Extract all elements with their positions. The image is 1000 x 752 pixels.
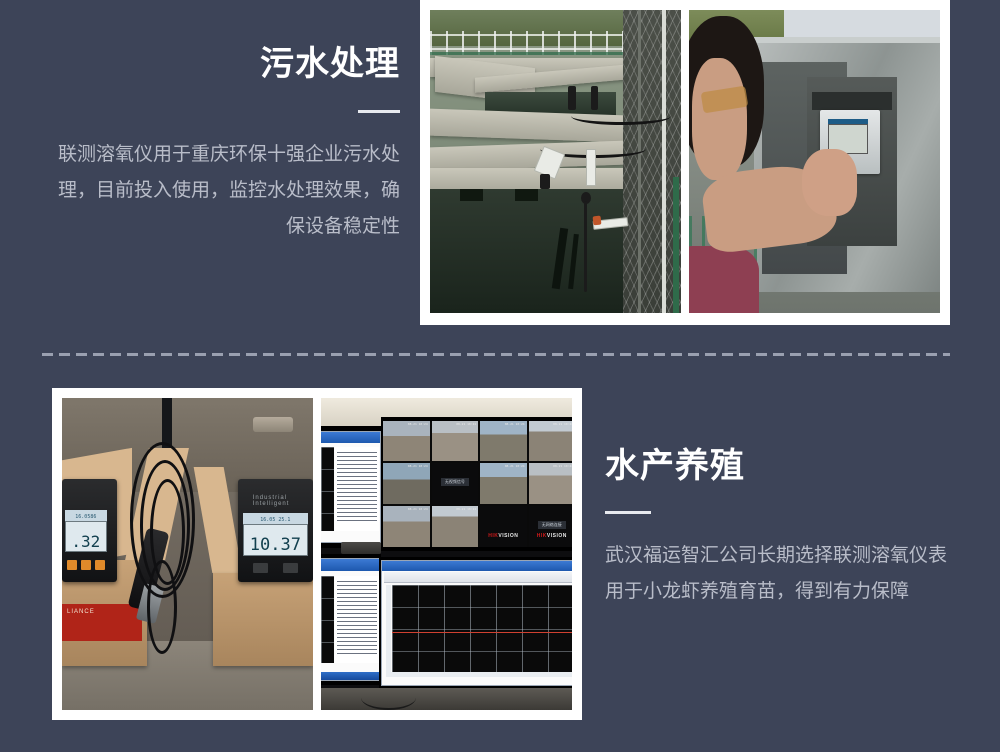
photo-window-titlebar [321, 432, 380, 443]
title-underline-rule-aquaculture [605, 511, 651, 514]
photo-cctv-brand-logo: HIKVISION [488, 533, 518, 539]
photo-meter-button [253, 563, 268, 572]
photo-technician-adjusting-controller [689, 10, 940, 313]
photo-meter-button [283, 563, 298, 572]
photo-meter-left-reading: .32 [65, 521, 108, 552]
photo-cctv-feed [383, 506, 429, 547]
photo-monitoring-workstation: 08-21 10:24 08-21 10:24 08-21 10:24 08-2… [321, 398, 572, 710]
photo-window-trend [381, 560, 572, 686]
photo-cctv-cell: 08-21 10:24 [432, 506, 478, 547]
section-divider-dashed [42, 353, 950, 356]
photo-cctv-cell: 08-21 10:24 [529, 421, 572, 462]
photo-carton-text: LIANCE [67, 609, 95, 615]
photo-dissolved-oxygen-meters: LIANCE 16.0586 .32 Industrial Intelligen… [62, 398, 313, 710]
photo-keyboard [341, 542, 381, 554]
photo-monitor-trend-chart [379, 557, 572, 688]
photo-desk-surface [321, 688, 572, 710]
photo-cctv-feed [529, 421, 572, 462]
photo-water-shadow [460, 189, 483, 201]
photo-probe-cable [571, 107, 671, 125]
photo-monitor-top-left [321, 426, 381, 548]
photo-cctv-feed [383, 463, 429, 504]
title-underline-rule-sewage [358, 110, 400, 113]
section-aquaculture-text: 水产养殖 武汉福运智汇公司长期选择联测溶氧仪表用于小龙虾养殖育苗，得到有力保障 [605, 446, 965, 610]
photo-window-list-rows [337, 452, 377, 525]
photo-chart-plot-area [392, 585, 572, 672]
photo-window-data-list [321, 431, 381, 543]
photo-cctv-feed [529, 463, 572, 504]
photo-frame-sewage [420, 0, 950, 325]
photo-window-titlebar [382, 561, 572, 571]
photo-cctv-timestamp: 08-21 10:24 [408, 464, 428, 468]
photo-din-rail [812, 92, 892, 110]
photo-cctv-timestamp: 08-21 10:24 [456, 422, 476, 426]
photo-cctv-timestamp: 08-21 10:24 [505, 464, 525, 468]
photo-meter-right-reading: 10.37 [243, 524, 308, 555]
photo-monitor-bottom-left [321, 554, 381, 685]
photo-meter-button [81, 560, 91, 569]
photo-meter-button [67, 560, 77, 569]
section-body-sewage: 联测溶氧仪用于重庆环保十强企业污水处理，目前投入使用，监控水处理效果，确保设备稳… [40, 137, 400, 245]
photo-window-statusbar [321, 672, 380, 680]
photo-person-face [692, 58, 747, 179]
photo-cctv-no-signal-label: 无视频信号 [441, 478, 469, 486]
photo-fence-post [662, 10, 666, 313]
photo-cable-coil [147, 560, 177, 654]
photo-window-toolbar [384, 572, 572, 583]
photo-desk-cable [361, 685, 416, 710]
photo-cctv-feed [383, 421, 429, 462]
photo-window-list-rows [337, 581, 377, 656]
photo-cable-marker [593, 216, 601, 226]
photo-cctv-cell-idle: HIKVISION [480, 506, 526, 547]
photo-cctv-cell: 08-21 10:24 [480, 463, 526, 504]
photo-cctv-cell-idle: 无网络连接 HIKVISION [529, 506, 572, 547]
photo-pipe-section [253, 417, 293, 433]
photo-cctv-cell-no-signal: 无视频信号 [432, 463, 478, 504]
photo-cctv-cell: 08-21 10:24 [529, 463, 572, 504]
photo-frame-aquaculture: LIANCE 16.0586 .32 Industrial Intelligen… [52, 388, 582, 720]
photo-sky-region [784, 10, 940, 40]
photo-chart-x-axis [386, 672, 572, 677]
photo-cctv-grid: 08-21 10:24 08-21 10:24 08-21 10:24 08-2… [383, 421, 572, 547]
photo-cctv-feed [480, 421, 526, 462]
photo-person-shirt [689, 246, 759, 313]
page-root: 污水处理 联测溶氧仪用于重庆环保十强企业污水处理，目前投入使用，监控水处理效果，… [0, 0, 1000, 752]
section-sewage-treatment-text: 污水处理 联测溶氧仪用于重庆环保十强企业污水处理，目前投入使用，监控水处理效果，… [40, 44, 400, 245]
photo-probe-head [568, 86, 576, 110]
photo-cctv-timestamp: 08-21 10:24 [553, 422, 572, 426]
photo-window-chart-pane [321, 576, 334, 663]
photo-cctv-cell: 08-21 10:24 [480, 421, 526, 462]
photo-cctv-timestamp: 08-21 10:24 [408, 422, 428, 426]
photo-cctv-cell: 08-21 10:24 [432, 421, 478, 462]
photo-fence-post [638, 10, 641, 313]
photo-sensor-body [540, 174, 550, 189]
photo-cctv-feed [432, 421, 478, 462]
photo-probe-rod [584, 201, 587, 292]
photo-cctv-feed [480, 463, 526, 504]
section-title-aquaculture: 水产养殖 [605, 446, 965, 487]
section-body-aquaculture: 武汉福运智汇公司长期选择联测溶氧仪表用于小龙虾养殖育苗，得到有力保障 [605, 538, 965, 610]
photo-monitor-cctv: 08-21 10:24 08-21 10:24 08-21 10:24 08-2… [381, 417, 572, 551]
photo-window-titlebar [321, 559, 380, 571]
photo-cctv-timestamp: 08-21 10:24 [456, 507, 476, 511]
section-title-sewage: 污水处理 [40, 44, 400, 85]
photo-window-chart-pane [321, 447, 334, 531]
photo-cctv-cell: 08-21 10:24 [383, 421, 429, 462]
photo-person-hand [802, 149, 857, 216]
photo-cctv-timestamp: 08-21 10:24 [408, 507, 428, 511]
photo-cctv-brand-logo: HIKVISION [537, 533, 567, 539]
photo-chart-trend-line [392, 632, 572, 633]
photo-cctv-cell: 08-21 10:24 [383, 463, 429, 504]
photo-window-data-list [321, 558, 381, 681]
photo-cctv-cell: 08-21 10:24 [383, 506, 429, 547]
photo-meter-button [95, 560, 105, 569]
photo-fence-post [673, 177, 678, 313]
photo-meter-brand-banner: Industrial Intelligent [253, 495, 313, 507]
photo-cctv-no-signal-label: 无网络连接 [538, 521, 566, 529]
photo-chart-y-axis [386, 585, 392, 672]
photo-wastewater-treatment-tanks [430, 10, 681, 313]
photo-cctv-feed [432, 506, 478, 547]
photo-cctv-timestamp: 08-21 10:24 [505, 422, 525, 426]
photo-mesh-fence [623, 10, 681, 313]
photo-cctv-timestamp: 08-21 10:24 [553, 464, 572, 468]
photo-carton-right [213, 573, 313, 667]
photo-water-shadow [515, 189, 538, 201]
photo-probe-head [591, 86, 599, 110]
photo-sensor-housing [586, 149, 596, 185]
